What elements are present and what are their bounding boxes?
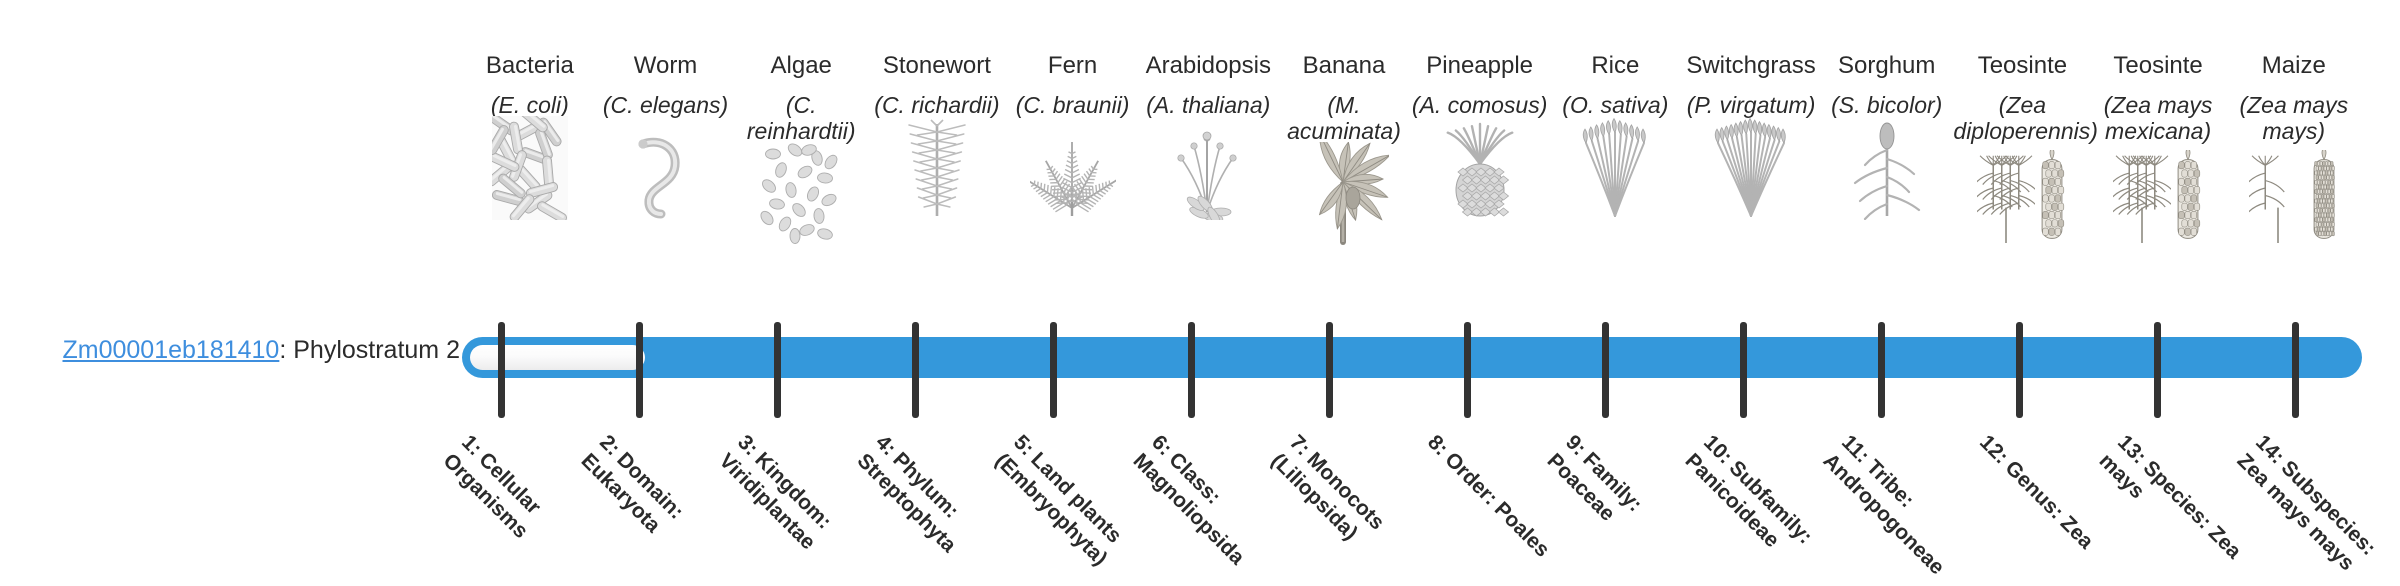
- species-column: Teosinte (Zea diploperennis): [1955, 52, 2091, 246]
- species-column: Sorghum (S. bicolor): [1819, 52, 1955, 220]
- rank-label: 14: Subspecies: Zea mays mays: [2232, 430, 2388, 586]
- species-latin-name: (C. richardii): [874, 92, 999, 118]
- switchgrass-illustration: [1708, 124, 1794, 220]
- rank-label: 5: Land plants (Embryophyta): [990, 430, 1146, 586]
- rice-illustration: [1573, 124, 1657, 220]
- rank-label: 1: Cellular Organisms: [438, 430, 594, 586]
- timeline-tick[interactable]: [774, 322, 781, 418]
- species-column: Fern (C. braunii): [1005, 52, 1141, 220]
- species-common-name: Maize: [2262, 52, 2326, 80]
- gene-label-separator: :: [279, 336, 293, 364]
- species-column: Pineapple (A. comosus): [1412, 52, 1548, 220]
- rank-label: 8: Order: Poales: [1422, 430, 1560, 568]
- species-latin-name: (S. bicolor): [1831, 92, 1942, 118]
- species-common-name: Teosinte: [2113, 52, 2202, 80]
- bacteria-illustration: [492, 124, 568, 220]
- species-common-name: Arabidopsis: [1146, 52, 1271, 80]
- species-column: Banana (M. acuminata): [1276, 52, 1412, 246]
- rank-label: 12: Genus: Zea: [1974, 430, 2112, 568]
- maize-illustration: [2249, 150, 2339, 246]
- species-common-name: Stonewort: [883, 52, 991, 80]
- species-latin-name: (A. thaliana): [1146, 92, 1270, 118]
- timeline-bar-unfilled-segment: [470, 345, 645, 370]
- species-column: Maize (Zea mays mays): [2226, 52, 2362, 246]
- gene-phylostratum-label: Zm00001eb181410: Phylostratum 2: [40, 335, 460, 365]
- species-common-name: Banana: [1303, 52, 1386, 80]
- species-column: Bacteria (E. coli): [462, 52, 598, 220]
- pineapple-illustration: [1438, 124, 1522, 220]
- arabidopsis-illustration: [1165, 124, 1251, 220]
- rank-label: 4: Phylum: Streptophyta: [852, 430, 1008, 586]
- species-common-name: Fern: [1048, 52, 1097, 80]
- timeline-tick[interactable]: [1878, 322, 1885, 418]
- species-column: Arabidopsis (A. thaliana): [1140, 52, 1276, 220]
- species-latin-name: (Zea mays mexicana): [2090, 92, 2226, 145]
- rank-label: 2: Domain: Eukaryota: [576, 430, 732, 586]
- rank-label: 11: Tribe: Andropogoneae: [1818, 430, 1974, 586]
- rank-label: 9: Family: Poaceae: [1542, 430, 1698, 586]
- species-latin-name: (C. reinhardtii): [733, 92, 869, 145]
- worm-illustration: [621, 124, 711, 220]
- species-common-name: Bacteria: [486, 52, 574, 80]
- species-common-name: Rice: [1591, 52, 1639, 80]
- stonewort-illustration: [895, 124, 979, 220]
- timeline-tick[interactable]: [1464, 322, 1471, 418]
- fern-illustration: [1030, 124, 1116, 220]
- species-column: Stonewort (C. richardii): [869, 52, 1005, 220]
- timeline-tick[interactable]: [2016, 322, 2023, 418]
- timeline-bar-track[interactable]: [462, 337, 2362, 378]
- species-common-name: Sorghum: [1838, 52, 1935, 80]
- timeline-tick[interactable]: [912, 322, 919, 418]
- species-latin-name: (Zea diploperennis): [1953, 92, 2091, 145]
- gene-id-link[interactable]: Zm00001eb181410: [62, 336, 279, 364]
- timeline-tick[interactable]: [1326, 322, 1333, 418]
- species-latin-name: (E. coli): [491, 92, 569, 118]
- species-column: Switchgrass (P. virgatum): [1683, 52, 1819, 220]
- timeline-tick[interactable]: [2154, 322, 2161, 418]
- species-common-name: Teosinte: [1978, 52, 2067, 80]
- rank-label: 3: Kingdom: Viridiplantae: [714, 430, 870, 586]
- species-latin-name: (A. comosus): [1412, 92, 1547, 118]
- species-latin-name: (P. virgatum): [1687, 92, 1816, 118]
- species-column: Worm (C. elegans): [598, 52, 734, 220]
- species-common-name: Worm: [634, 52, 698, 80]
- timeline-tick[interactable]: [498, 322, 505, 418]
- species-column: Rice (O. sativa): [1548, 52, 1684, 220]
- timeline-tick[interactable]: [1188, 322, 1195, 418]
- algae-illustration: [759, 150, 843, 246]
- species-latin-name: (C. elegans): [603, 92, 728, 118]
- rank-label: 7: Monocots (Liliopsida): [1266, 430, 1422, 586]
- species-common-name: Switchgrass: [1686, 52, 1815, 80]
- species-header-row: Bacteria (E. coli): [462, 52, 2362, 312]
- timeline-tick[interactable]: [2292, 322, 2299, 418]
- species-column: Algae (C. reinhardtii): [733, 52, 869, 246]
- rank-label: 13: Species: Zea mays: [2094, 430, 2250, 586]
- timeline-tick[interactable]: [1050, 322, 1057, 418]
- phylostratum-timeline: [462, 310, 2382, 430]
- rank-labels-row: 1: Cellular Organisms2: Domain: Eukaryot…: [462, 430, 2382, 580]
- banana-illustration: [1299, 150, 1389, 246]
- species-latin-name: (M. acuminata): [1276, 92, 1412, 145]
- species-latin-name: (O. sativa): [1562, 92, 1668, 118]
- species-latin-name: (C. braunii): [1016, 92, 1130, 118]
- teosinte-diploperennis-illustration: [1977, 150, 2067, 246]
- timeline-tick[interactable]: [1740, 322, 1747, 418]
- species-common-name: Pineapple: [1426, 52, 1533, 80]
- teosinte-mexicana-illustration: [2113, 150, 2203, 246]
- species-column: Teosinte (Zea mays mexicana): [2090, 52, 2226, 246]
- timeline-tick[interactable]: [636, 322, 643, 418]
- species-common-name: Algae: [771, 52, 832, 80]
- species-latin-name: (Zea mays mays): [2226, 92, 2362, 145]
- rank-label: 10: Subfamily: Panicoideae: [1680, 430, 1836, 586]
- timeline-tick[interactable]: [1602, 322, 1609, 418]
- sorghum-illustration: [1845, 124, 1929, 220]
- rank-label: 6: Class: Magnoliopsida: [1128, 430, 1284, 586]
- phylostratum-value: Phylostratum 2: [293, 336, 460, 364]
